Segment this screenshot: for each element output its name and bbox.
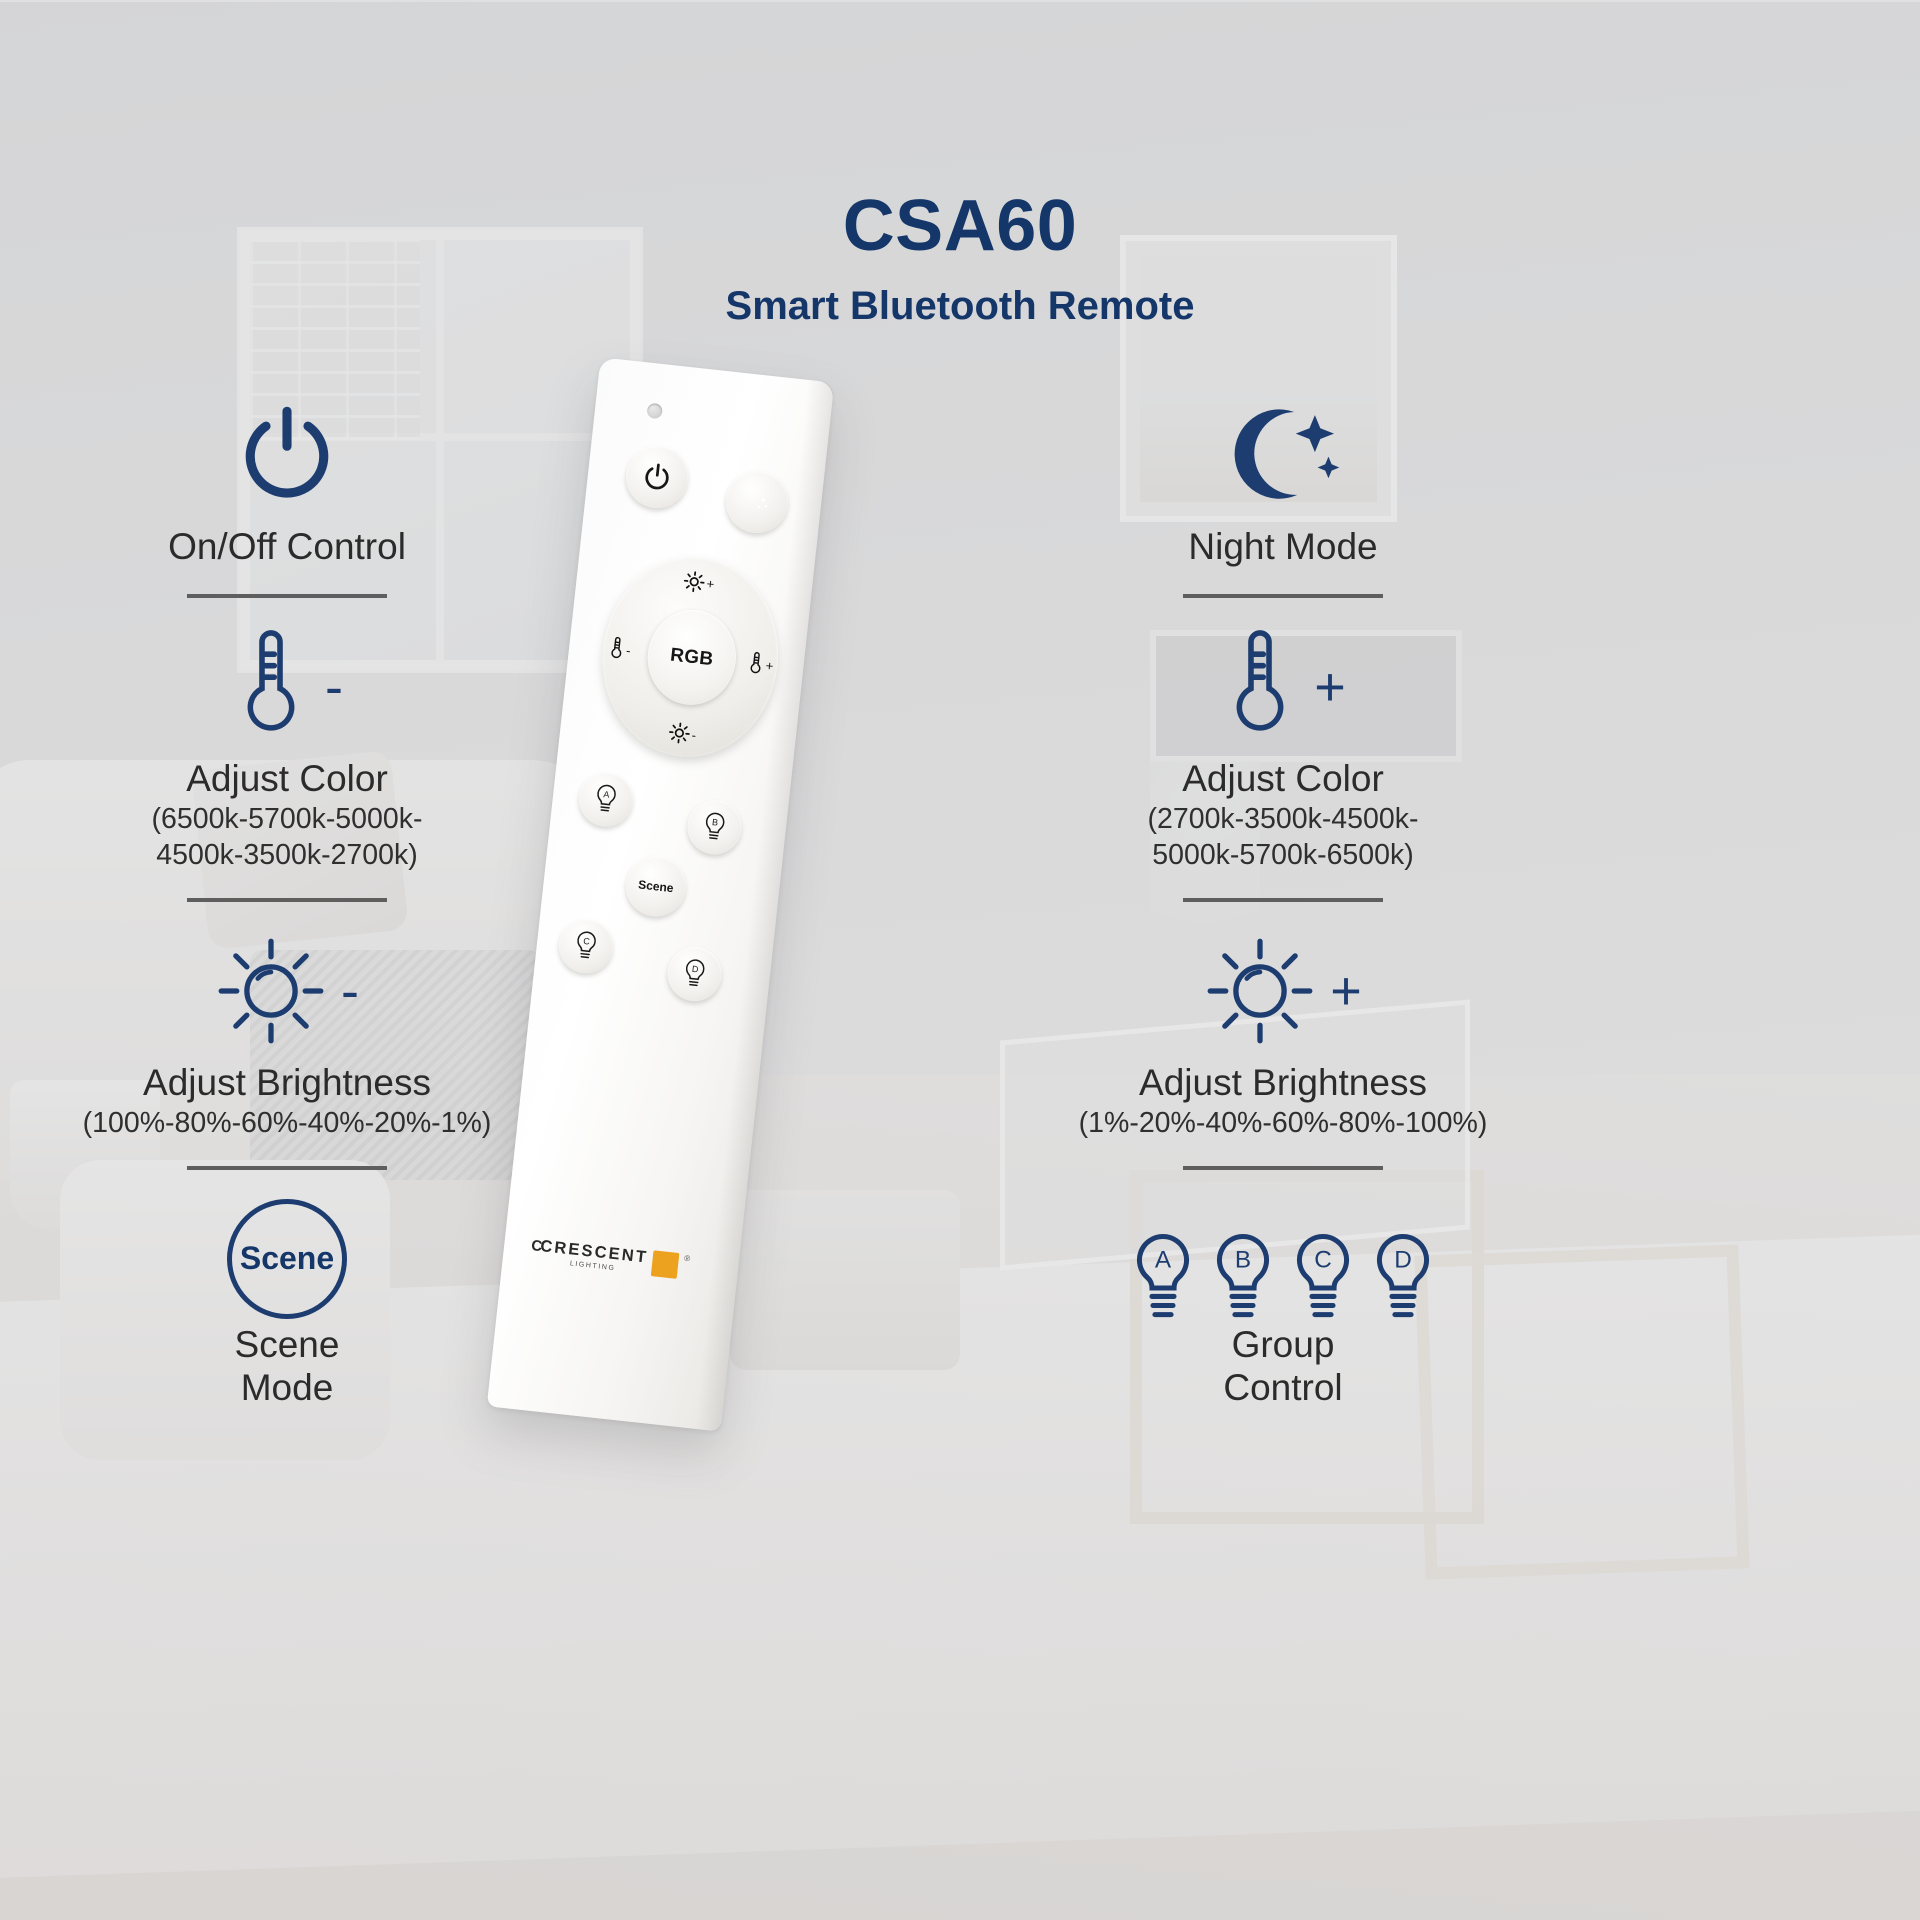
feature-label: Adjust Brightness <box>72 1062 502 1104</box>
remote-color-temp-down-label[interactable]: - <box>608 636 632 662</box>
bulb-group-icon: A B C <box>1068 1194 1498 1324</box>
power-icon <box>72 390 502 520</box>
feature-label: Adjust Color <box>72 758 502 800</box>
scene-icon-label: Scene <box>227 1199 347 1319</box>
feature-adjust-brightness-down: - Adjust Brightness (100%-80%-60%-40%-20… <box>72 926 502 1140</box>
ir-led-indicator <box>646 403 663 420</box>
feature-label-line-2: Control <box>1068 1367 1498 1410</box>
feature-group-control: A B C <box>1068 1194 1498 1409</box>
remote-rgb-button[interactable]: RGB <box>643 605 741 709</box>
minus-sign: - <box>691 727 697 742</box>
minus-sign: - <box>625 642 631 657</box>
feature-detail: (100%-80%-60%-40%-20%-1%) <box>72 1106 502 1140</box>
feature-detail-line-2: 5000k-5700k-6500k) <box>1068 838 1498 872</box>
remote-group-c-button[interactable]: C <box>556 916 616 976</box>
feature-adjust-brightness-up: + Adjust Brightness (1%-20%-40%-60%-80%-… <box>1068 926 1498 1140</box>
header: CSA60 Smart Bluetooth Remote <box>0 190 1920 329</box>
feature-detail-line-1: (6500k-5700k-5000k- <box>72 802 502 836</box>
feature-detail-line-2: 4500k-3500k-2700k) <box>72 838 502 872</box>
feature-adjust-color-down: - Adjust Color (6500k-5700k-5000k- 4500k… <box>72 622 502 872</box>
divider <box>187 1166 387 1170</box>
remote-color-temp-up-label[interactable]: + <box>748 651 775 678</box>
minus-sign: - <box>341 975 359 1007</box>
bulb-letter: B <box>1235 1246 1251 1273</box>
feature-adjust-color-up: + Adjust Color (2700k-3500k-4500k- 5000k… <box>1068 622 1498 872</box>
feature-label: Adjust Color <box>1068 758 1498 800</box>
feature-label-line-1: Group <box>1068 1324 1498 1367</box>
divider <box>187 898 387 902</box>
bulb-icon-d: D <box>1370 1230 1436 1324</box>
divider <box>1183 594 1383 598</box>
feature-detail-line-1: (2700k-3500k-4500k- <box>1068 802 1498 836</box>
remote-group-b-letter: B <box>712 817 719 828</box>
bulb-icon-c: C <box>1290 1230 1356 1324</box>
moon-stars-icon <box>1068 390 1498 520</box>
feature-label: Night Mode <box>1068 526 1498 568</box>
page-subtitle: Smart Bluetooth Remote <box>0 284 1920 329</box>
remote-group-b-button[interactable]: B <box>685 798 745 858</box>
bulb-letter: D <box>1394 1246 1412 1273</box>
remote-brightness-down-label[interactable]: - <box>667 721 698 746</box>
thermometer-plus-icon-group: + <box>1068 622 1498 752</box>
remote-group-d-letter: D <box>691 964 699 975</box>
remote-group-a-button[interactable]: A <box>576 770 636 830</box>
remote-scene-label: Scene <box>638 877 675 895</box>
thermometer-icon <box>231 628 311 746</box>
feature-detail: (1%-20%-40%-60%-80%-100%) <box>1068 1106 1498 1140</box>
feature-on-off-control: On/Off Control <box>72 390 502 568</box>
feature-label: On/Off Control <box>72 526 502 568</box>
bulb-icon-a: A <box>1130 1230 1196 1324</box>
plus-sign: + <box>765 657 774 673</box>
remote-group-a-letter: A <box>603 789 610 800</box>
remote-scene-button[interactable]: Scene <box>623 853 689 919</box>
plus-sign: + <box>1314 671 1346 703</box>
bulb-letter: C <box>1314 1246 1332 1273</box>
plus-sign: + <box>1330 975 1362 1007</box>
page-title: CSA60 <box>0 190 1920 262</box>
thermometer-minus-icon-group: - <box>72 622 502 752</box>
remote-night-mode-button[interactable] <box>723 468 791 536</box>
remote-group-c-letter: C <box>583 936 591 947</box>
sun-icon <box>215 935 327 1047</box>
features-left-column: On/Off Control - Adjust Color (6500k-570… <box>72 390 502 1413</box>
remote-brightness-up-label[interactable]: + <box>682 570 716 595</box>
divider <box>1183 898 1383 902</box>
bulb-letter: A <box>1155 1246 1172 1273</box>
sun-icon <box>1204 935 1316 1047</box>
registered-trademark-symbol: ® <box>684 1254 691 1264</box>
feature-night-mode: Night Mode <box>1068 390 1498 568</box>
sun-minus-icon-group: - <box>72 926 502 1056</box>
remote-power-button[interactable] <box>623 443 691 511</box>
logo-text: C CRESCENT LIGHTING <box>538 1238 649 1276</box>
feature-scene-mode: Scene Scene Mode <box>72 1194 502 1409</box>
logo-orange-square <box>651 1250 680 1279</box>
features-right-column: Night Mode + Adjust Color (2700k-3500k-4… <box>1068 390 1498 1413</box>
feature-label-line-2: Mode <box>72 1367 502 1410</box>
plus-sign: + <box>706 576 715 592</box>
scene-circle-icon: Scene <box>72 1194 502 1324</box>
remote-control-product-photo: + - RGB + <box>600 370 970 1440</box>
logo-c-mark: C <box>531 1238 543 1254</box>
minus-sign: - <box>325 671 343 703</box>
feature-label: Adjust Brightness <box>1068 1062 1498 1104</box>
bulb-icon-b: B <box>1210 1230 1276 1324</box>
remote-group-d-button[interactable]: D <box>665 944 725 1004</box>
remote-rgb-label: RGB <box>669 644 714 671</box>
crescent-lighting-logo: C CRESCENT LIGHTING ® <box>538 1238 700 1281</box>
divider <box>1183 1166 1383 1170</box>
divider <box>187 594 387 598</box>
feature-label-line-1: Scene <box>72 1324 502 1367</box>
sun-plus-icon-group: + <box>1068 926 1498 1056</box>
thermometer-icon <box>1220 628 1300 746</box>
remote-dpad[interactable]: + - RGB + <box>593 548 789 766</box>
